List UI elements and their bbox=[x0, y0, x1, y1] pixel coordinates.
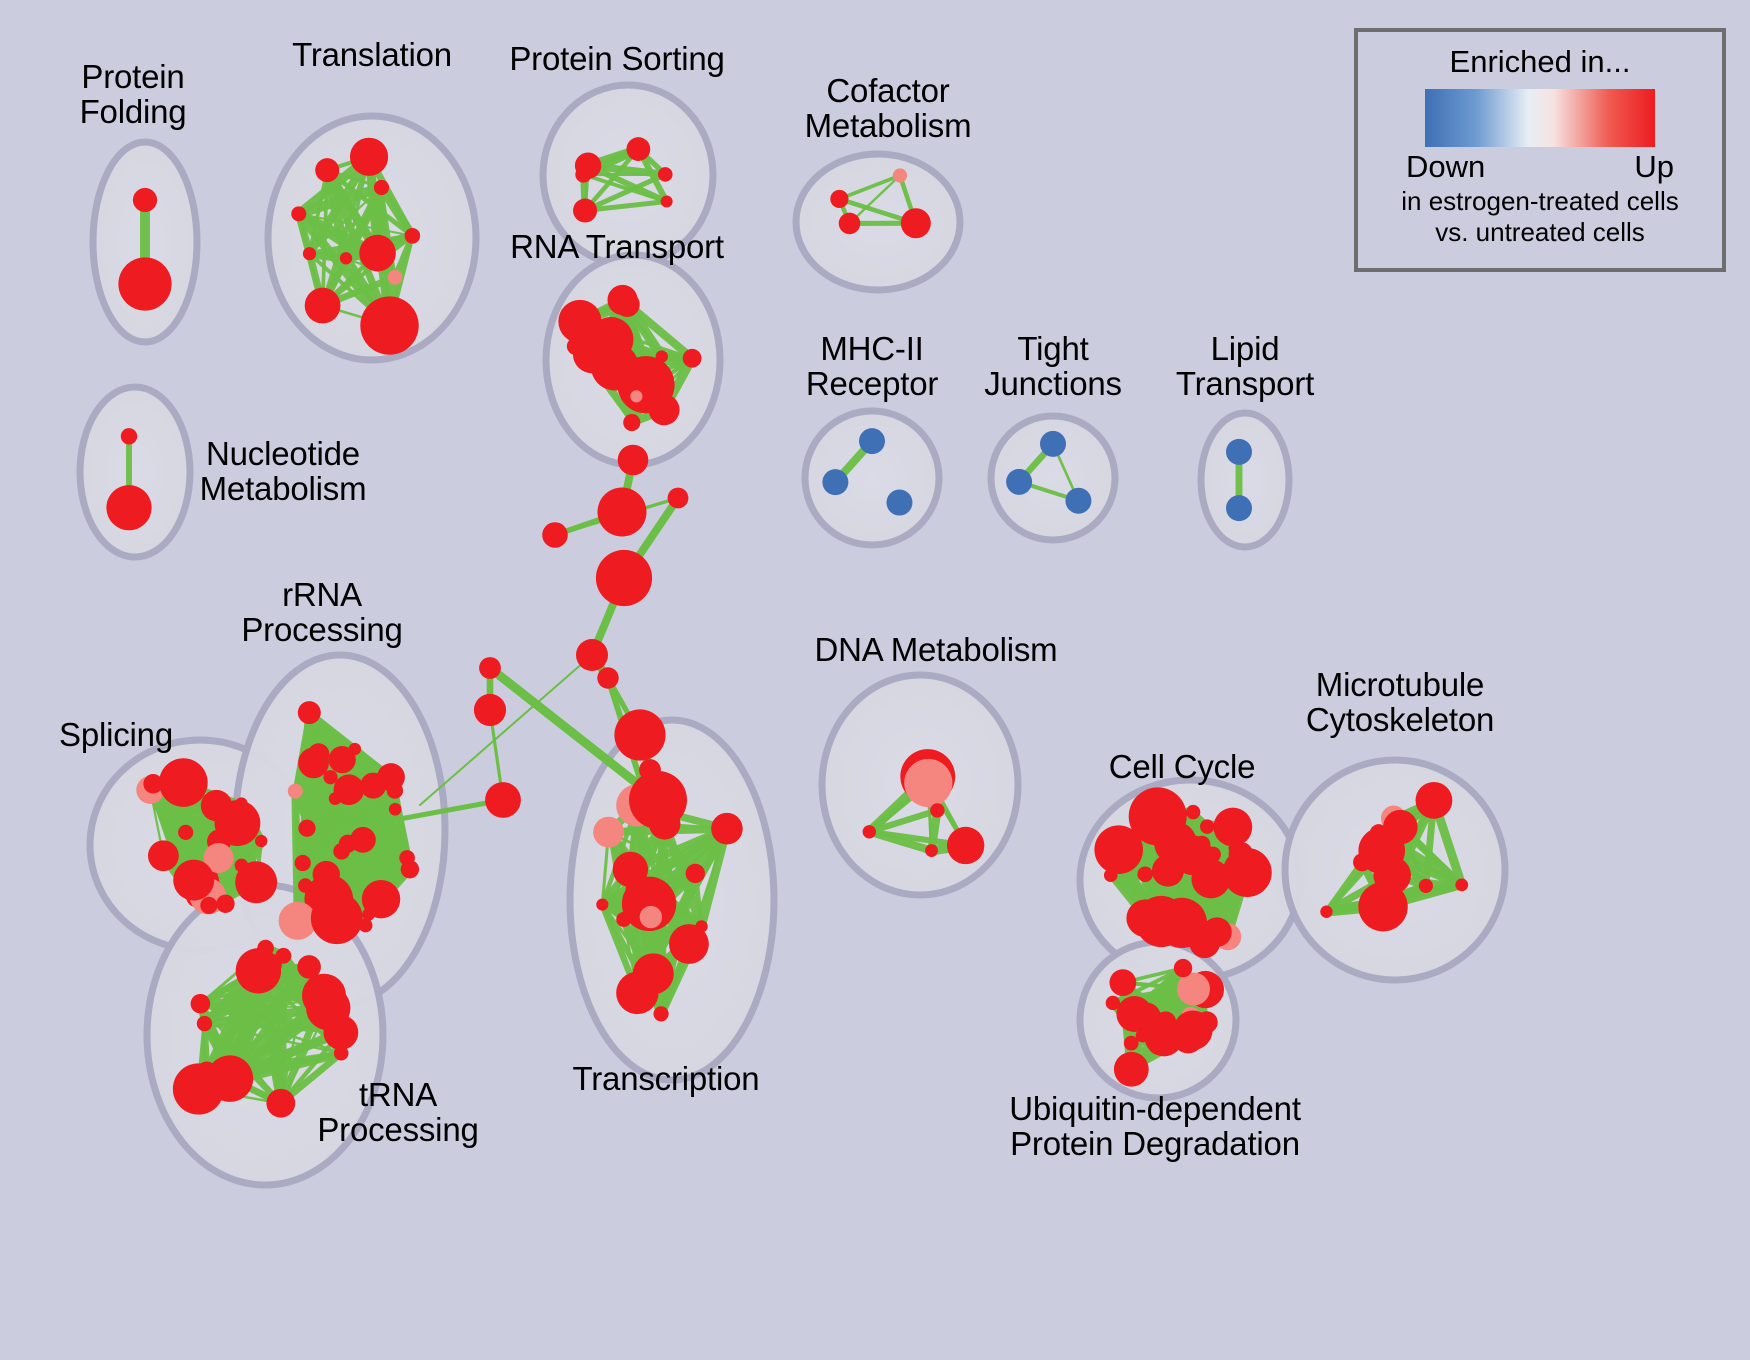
legend-colorbar bbox=[1425, 89, 1655, 147]
enrichment-map-figure: Enriched in... Down Up in estrogen-treat… bbox=[0, 0, 1750, 1360]
legend-title: Enriched in... bbox=[1450, 44, 1631, 80]
cluster-label: Microtubule Cytoskeleton bbox=[1306, 668, 1494, 738]
cluster-label: Protein Folding bbox=[80, 60, 187, 130]
cluster-label: Ubiquitin-dependent Protein Degradation bbox=[1009, 1092, 1301, 1162]
legend-low-label: Down bbox=[1406, 149, 1485, 185]
cluster-label: Nucleotide Metabolism bbox=[200, 437, 367, 507]
cluster-label: Transcription bbox=[573, 1062, 760, 1097]
cluster-label: Splicing bbox=[59, 718, 173, 753]
legend-box: Enriched in... Down Up in estrogen-treat… bbox=[1354, 28, 1726, 272]
cluster-label: Tight Junctions bbox=[984, 332, 1122, 402]
cluster-label: Translation bbox=[292, 38, 452, 73]
cluster-label: Protein Sorting bbox=[509, 42, 724, 77]
cluster-label: MHC-II Receptor bbox=[806, 332, 938, 402]
legend-caption-line1: in estrogen-treated cells bbox=[1401, 187, 1678, 216]
legend-caption-line2: vs. untreated cells bbox=[1435, 218, 1645, 247]
cluster-label: Lipid Transport bbox=[1176, 332, 1314, 402]
cluster-label: rRNA Processing bbox=[241, 578, 402, 648]
cluster-label: RNA Transport bbox=[510, 230, 724, 265]
cluster-label: tRNA Processing bbox=[317, 1078, 478, 1148]
cluster-label: DNA Metabolism bbox=[815, 633, 1058, 668]
cluster-label: Cofactor Metabolism bbox=[805, 74, 972, 144]
cluster-label: Cell Cycle bbox=[1109, 750, 1256, 785]
legend-high-label: Up bbox=[1634, 149, 1674, 185]
